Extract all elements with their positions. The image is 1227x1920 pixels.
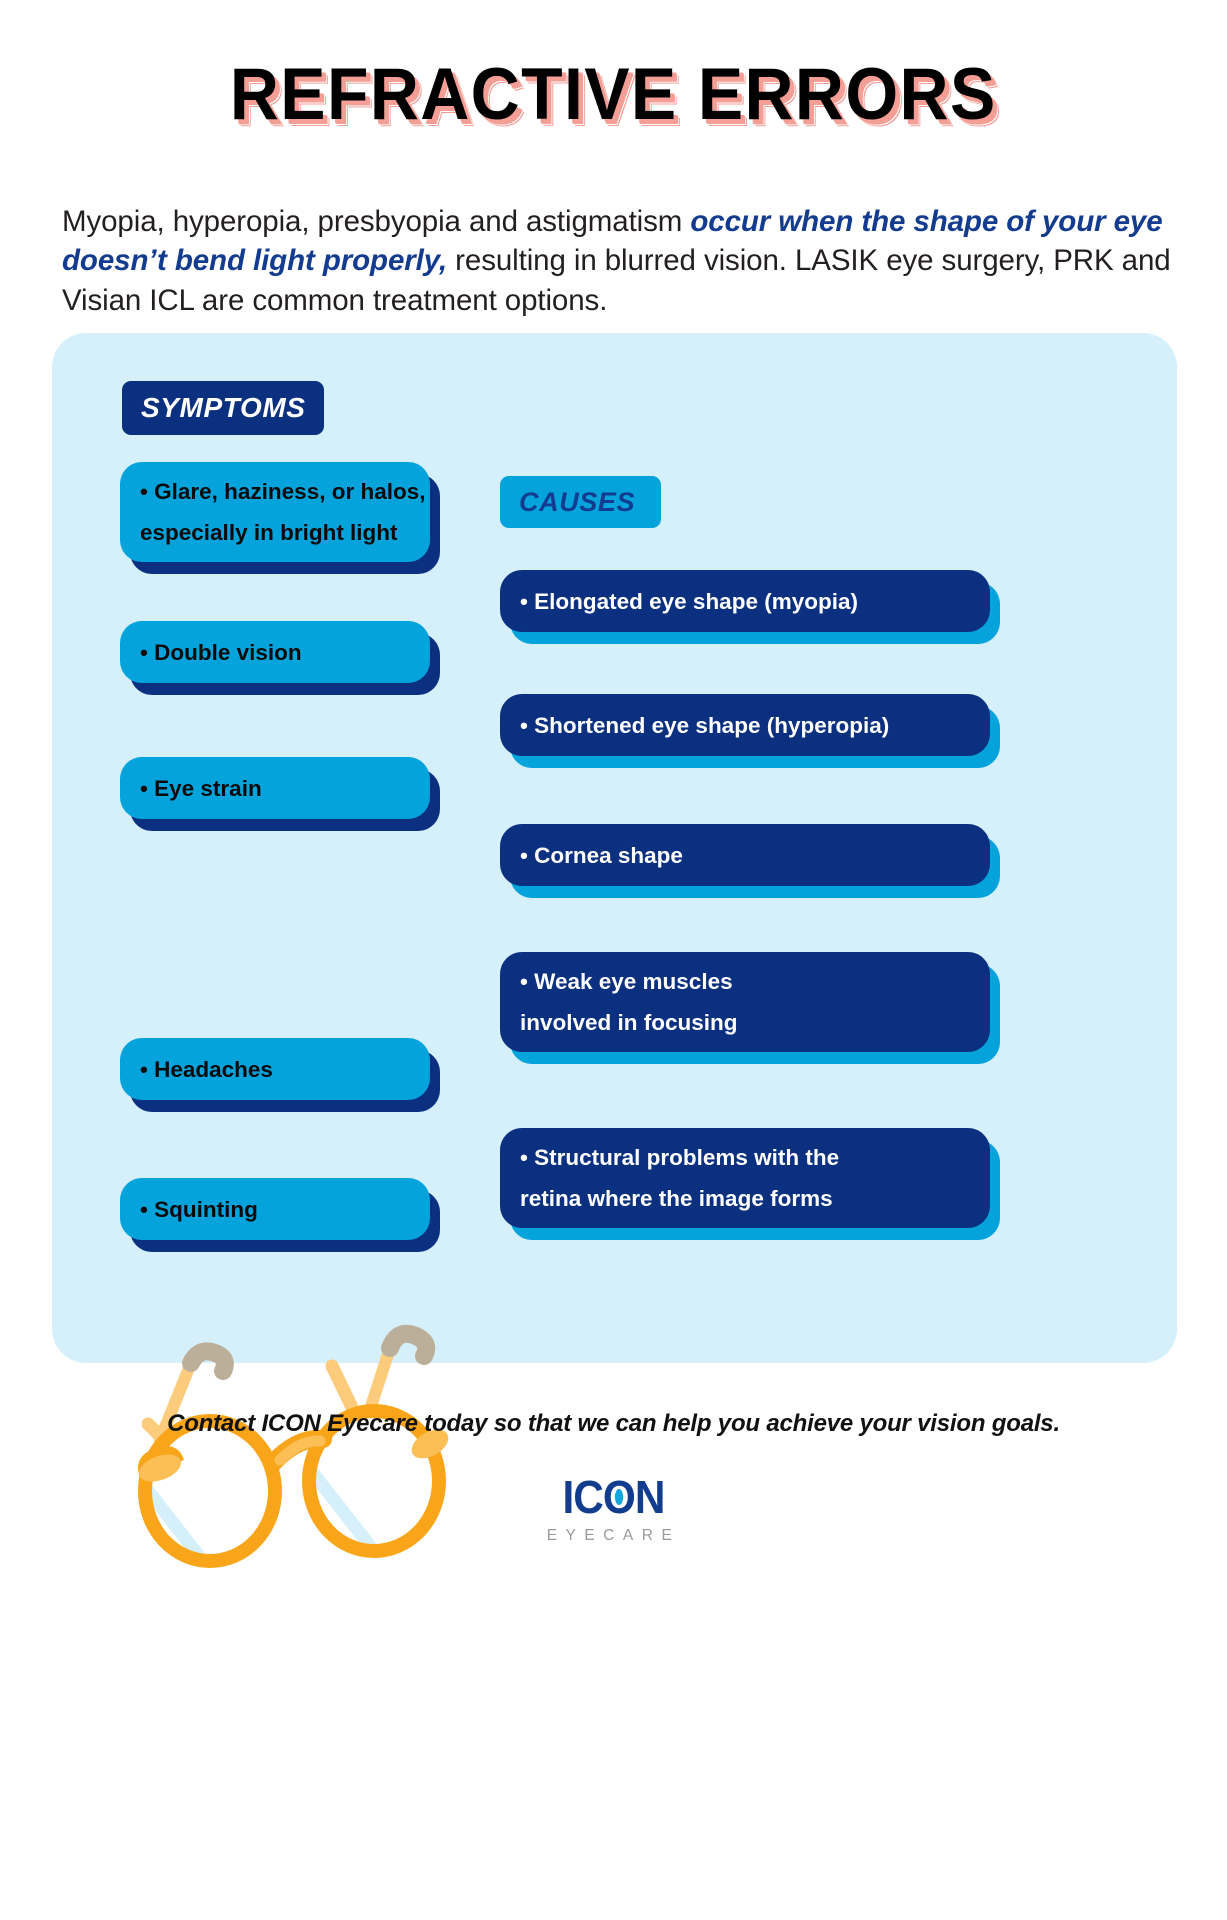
pill-line: • Elongated eye shape (myopia) xyxy=(520,581,972,622)
page-title: REFRACTIVE ERRORS xyxy=(0,52,1227,144)
pill-line: • Eye strain xyxy=(140,768,412,809)
cause-pill: • Cornea shape xyxy=(500,824,990,886)
pill-face: • Shortened eye shape (hyperopia) xyxy=(500,694,990,756)
pill-line: • Headaches xyxy=(140,1049,412,1090)
cause-pill: • Structural problems with the retina wh… xyxy=(500,1128,990,1228)
pill-face: • Eye strain xyxy=(120,757,430,819)
symptom-pill: • Eye strain xyxy=(120,757,430,819)
logo-secondary-text: EYECARE xyxy=(0,1527,1227,1545)
pill-line: • Weak eye muscles xyxy=(520,961,972,1002)
symptom-pill: • Squinting xyxy=(120,1178,430,1240)
pill-face: • Glare, haziness, or halos, especially … xyxy=(120,462,430,562)
pill-face: • Headaches xyxy=(120,1038,430,1100)
logo-primary-text: ICON xyxy=(562,1471,664,1523)
cause-pill: • Shortened eye shape (hyperopia) xyxy=(500,694,990,756)
pill-face: • Structural problems with the retina wh… xyxy=(500,1128,990,1228)
symptoms-badge: SYMPTOMS xyxy=(122,381,324,435)
eyeglasses-icon xyxy=(118,1308,468,1628)
pill-face: • Elongated eye shape (myopia) xyxy=(500,570,990,632)
brand-logo: ICON EYECARE xyxy=(0,1474,1227,1545)
pill-face: • Squinting xyxy=(120,1178,430,1240)
pill-line: • Shortened eye shape (hyperopia) xyxy=(520,705,972,746)
pill-line: especially in bright light xyxy=(140,512,412,553)
pill-line: • Glare, haziness, or halos, xyxy=(140,471,412,512)
pill-line: involved in focusing xyxy=(520,1002,972,1043)
causes-badge-label: CAUSES xyxy=(519,487,635,518)
pill-line: • Cornea shape xyxy=(520,835,972,876)
symptom-pill: • Glare, haziness, or halos, especially … xyxy=(120,462,430,562)
pill-line: • Structural problems with the xyxy=(520,1137,972,1178)
symptom-pill: • Headaches xyxy=(120,1038,430,1100)
logo-icon-wordmark: ICON xyxy=(562,1474,664,1520)
intro-paragraph: Myopia, hyperopia, presbyopia and astigm… xyxy=(62,202,1172,321)
pill-face: • Weak eye muscles involved in focusing xyxy=(500,952,990,1052)
page-title-text: REFRACTIVE ERRORS xyxy=(230,52,997,138)
temple-tip-right xyxy=(390,1334,426,1356)
pill-face: • Double vision xyxy=(120,621,430,683)
symptoms-badge-label: SYMPTOMS xyxy=(141,392,306,424)
symptom-pill: • Double vision xyxy=(120,621,430,683)
pill-face: • Cornea shape xyxy=(500,824,990,886)
pill-line: retina where the image forms xyxy=(520,1178,972,1219)
temple-tip-left xyxy=(191,1351,225,1371)
eye-accent-icon xyxy=(615,1489,623,1505)
causes-badge: CAUSES xyxy=(500,476,661,528)
pill-line: • Double vision xyxy=(140,632,412,673)
pill-line: • Squinting xyxy=(140,1189,412,1230)
cause-pill: • Weak eye muscles involved in focusing xyxy=(500,952,990,1052)
intro-part-1: Myopia, hyperopia, presbyopia and astigm… xyxy=(62,205,690,238)
cause-pill: • Elongated eye shape (myopia) xyxy=(500,570,990,632)
contact-cta: Contact ICON Eyecare today so that we ca… xyxy=(0,1410,1227,1438)
